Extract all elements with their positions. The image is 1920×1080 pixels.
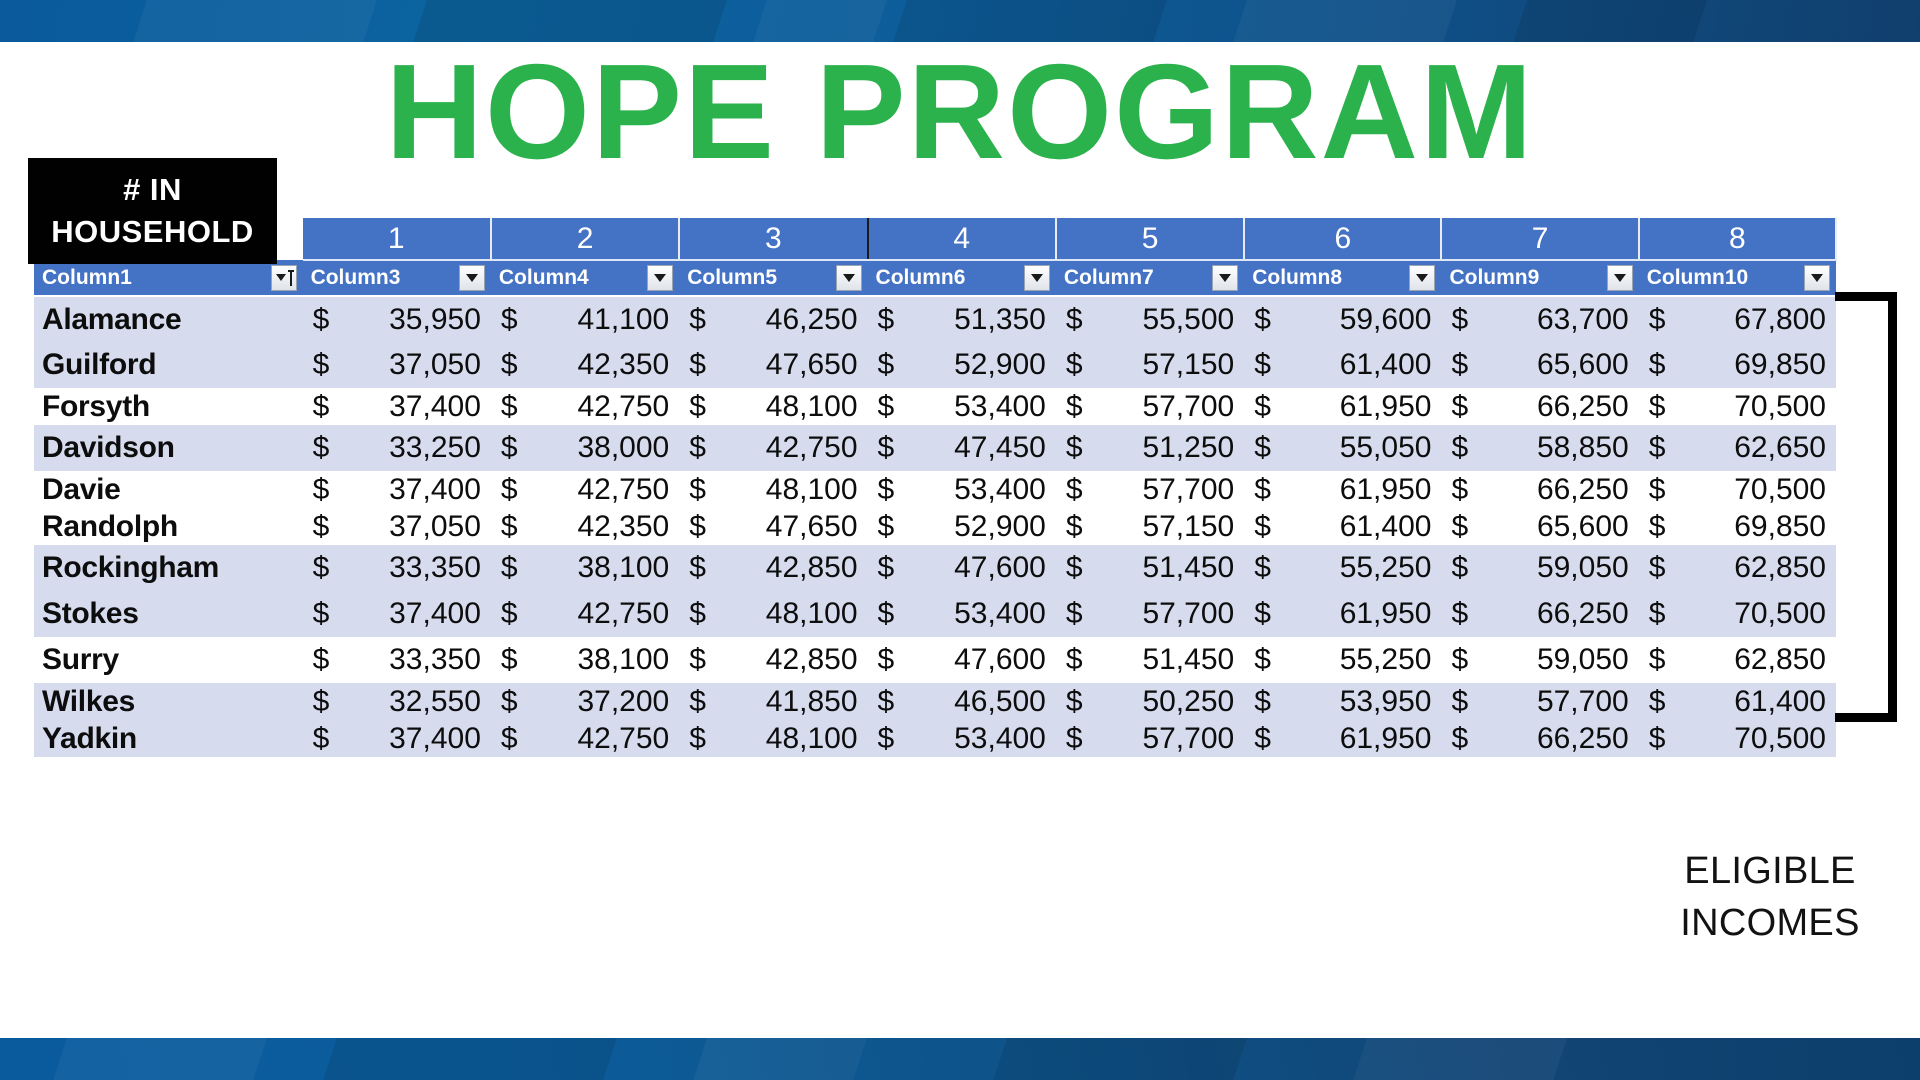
- income-amount: 48,100: [766, 390, 858, 423]
- income-amount: 53,950: [1340, 685, 1432, 718]
- income-amount: 47,600: [954, 551, 1046, 584]
- currency-symbol: $: [1066, 390, 1083, 424]
- income-cell: $42,750: [491, 471, 679, 508]
- income-amount: 53,400: [954, 390, 1046, 423]
- county-name-cell: Guilford: [34, 342, 303, 388]
- currency-symbol: $: [878, 685, 895, 719]
- income-amount: 70,500: [1734, 390, 1826, 423]
- income-cell: $47,600: [868, 637, 1056, 683]
- income-cell: $33,250: [303, 425, 491, 471]
- income-cell: $37,400: [303, 720, 491, 757]
- filter-dropdown-icon[interactable]: [459, 265, 485, 291]
- income-amount: 38,000: [577, 431, 669, 464]
- income-cell: $53,400: [868, 388, 1056, 425]
- currency-symbol: $: [1254, 390, 1271, 424]
- currency-symbol: $: [1451, 643, 1468, 677]
- household-size-header-2: 2: [491, 218, 679, 260]
- income-amount: 66,250: [1537, 597, 1629, 630]
- bottom-decorative-band: [0, 1038, 1920, 1080]
- income-amount: 61,950: [1340, 722, 1432, 755]
- column-header-label: Column10: [1647, 266, 1749, 290]
- income-amount: 33,250: [389, 431, 481, 464]
- currency-symbol: $: [689, 473, 706, 507]
- column-header-label: Column1: [42, 266, 132, 290]
- column-header-label: Column6: [876, 266, 966, 290]
- currency-symbol: $: [501, 348, 518, 382]
- currency-symbol: $: [1254, 473, 1271, 507]
- currency-symbol: $: [1254, 551, 1271, 585]
- currency-symbol: $: [878, 510, 895, 544]
- currency-symbol: $: [1066, 551, 1083, 585]
- income-cell: $61,950: [1244, 720, 1441, 757]
- table-body: Alamance$35,950$41,100$46,250$51,350$55,…: [34, 296, 1836, 757]
- income-amount: 47,650: [766, 510, 858, 543]
- income-amount: 62,650: [1734, 431, 1826, 464]
- income-amount: 37,400: [389, 597, 481, 630]
- band-facet: [990, 1038, 1249, 1080]
- column-header-column1: Column1: [34, 260, 303, 296]
- currency-symbol: $: [878, 348, 895, 382]
- currency-symbol: $: [689, 390, 706, 424]
- column-header-column8: Column8: [1244, 260, 1441, 296]
- income-amount: 37,050: [389, 348, 481, 381]
- currency-symbol: $: [1451, 551, 1468, 585]
- currency-symbol: $: [689, 643, 706, 677]
- income-cell: $37,400: [303, 591, 491, 637]
- income-amount: 41,100: [577, 303, 669, 336]
- income-amount: 67,800: [1734, 303, 1826, 336]
- band-facet: [50, 1038, 269, 1080]
- income-cell: $42,750: [491, 388, 679, 425]
- household-size-header-8: 8: [1639, 218, 1836, 260]
- currency-symbol: $: [1066, 348, 1083, 382]
- income-cell: $57,150: [1056, 508, 1244, 545]
- currency-symbol: $: [313, 473, 330, 507]
- income-cell: $61,950: [1244, 471, 1441, 508]
- income-amount: 51,250: [1142, 431, 1234, 464]
- income-cell: $51,450: [1056, 545, 1244, 591]
- income-cell: $57,700: [1056, 388, 1244, 425]
- currency-symbol: $: [1649, 643, 1666, 677]
- income-amount: 55,250: [1340, 643, 1432, 676]
- income-cell: $61,950: [1244, 591, 1441, 637]
- county-name-cell: Alamance: [34, 296, 303, 342]
- bracket-bottom-arm: [1835, 713, 1897, 722]
- chevron-down-icon: [1416, 274, 1428, 282]
- income-amount: 42,750: [577, 473, 669, 506]
- currency-symbol: $: [1254, 348, 1271, 382]
- household-header-label: # IN HOUSEHOLD: [28, 158, 277, 264]
- income-amount: 57,700: [1142, 597, 1234, 630]
- income-cell: $70,500: [1639, 471, 1836, 508]
- currency-symbol: $: [1254, 303, 1271, 337]
- currency-symbol: $: [1066, 643, 1083, 677]
- income-cell: $55,250: [1244, 637, 1441, 683]
- currency-symbol: $: [689, 722, 706, 756]
- income-amount: 61,950: [1340, 597, 1432, 630]
- currency-symbol: $: [313, 551, 330, 585]
- income-amount: 61,400: [1734, 685, 1826, 718]
- income-cell: $62,650: [1639, 425, 1836, 471]
- income-amount: 37,050: [389, 510, 481, 543]
- band-facet: [690, 1038, 869, 1080]
- currency-symbol: $: [689, 551, 706, 585]
- currency-symbol: $: [878, 643, 895, 677]
- income-cell: $41,850: [679, 683, 867, 720]
- income-amount: 51,350: [954, 303, 1046, 336]
- income-amount: 52,900: [954, 348, 1046, 381]
- county-name-cell: Forsyth: [34, 388, 303, 425]
- income-cell: $41,100: [491, 296, 679, 342]
- column-header-column10: Column10: [1639, 260, 1836, 296]
- table-row: Yadkin$37,400$42,750$48,100$53,400$57,70…: [34, 720, 1836, 757]
- income-cell: $57,700: [1056, 471, 1244, 508]
- income-cell: $47,600: [868, 545, 1056, 591]
- income-amount: 70,500: [1734, 722, 1826, 755]
- income-amount: 57,700: [1142, 473, 1234, 506]
- income-cell: $42,350: [491, 508, 679, 545]
- currency-symbol: $: [1066, 722, 1083, 756]
- income-cell: $37,400: [303, 388, 491, 425]
- income-amount: 59,050: [1537, 551, 1629, 584]
- income-cell: $66,250: [1441, 720, 1638, 757]
- income-amount: 61,400: [1340, 348, 1432, 381]
- income-cell: $48,100: [679, 471, 867, 508]
- currency-symbol: $: [313, 348, 330, 382]
- income-amount: 53,400: [954, 722, 1046, 755]
- currency-symbol: $: [1066, 303, 1083, 337]
- income-cell: $53,950: [1244, 683, 1441, 720]
- income-amount: 63,700: [1537, 303, 1629, 336]
- currency-symbol: $: [1066, 510, 1083, 544]
- currency-symbol: $: [689, 348, 706, 382]
- currency-symbol: $: [501, 303, 518, 337]
- income-cell: $67,800: [1639, 296, 1836, 342]
- income-amount: 66,250: [1537, 390, 1629, 423]
- household-label-line2: HOUSEHOLD: [51, 211, 254, 253]
- currency-symbol: $: [1254, 722, 1271, 756]
- income-amount: 42,750: [577, 597, 669, 630]
- income-amount: 33,350: [389, 643, 481, 676]
- income-cell: $42,850: [679, 637, 867, 683]
- county-name-cell: Stokes: [34, 591, 303, 637]
- currency-symbol: $: [1254, 597, 1271, 631]
- income-amount: 48,100: [766, 597, 858, 630]
- income-cell: $48,100: [679, 720, 867, 757]
- currency-symbol: $: [1451, 685, 1468, 719]
- income-cell: $42,750: [491, 720, 679, 757]
- income-amount: 65,600: [1537, 348, 1629, 381]
- currency-symbol: $: [878, 431, 895, 465]
- income-cell: $42,850: [679, 545, 867, 591]
- income-cell: $53,400: [868, 591, 1056, 637]
- income-amount: 57,150: [1142, 348, 1234, 381]
- income-amount: 42,750: [577, 390, 669, 423]
- income-cell: $46,500: [868, 683, 1056, 720]
- table-row: Surry$33,350$38,100$42,850$47,600$51,450…: [34, 637, 1836, 683]
- income-amount: 51,450: [1142, 551, 1234, 584]
- income-amount: 61,950: [1340, 473, 1432, 506]
- county-name-cell: Yadkin: [34, 720, 303, 757]
- currency-symbol: $: [501, 431, 518, 465]
- chevron-down-icon: [654, 274, 666, 282]
- currency-symbol: $: [1649, 390, 1666, 424]
- currency-symbol: $: [313, 722, 330, 756]
- county-name-cell: Randolph: [34, 508, 303, 545]
- table-row: Wilkes$32,550$37,200$41,850$46,500$50,25…: [34, 683, 1836, 720]
- page-title: HOPE PROGRAM: [0, 44, 1920, 179]
- income-amount: 50,250: [1142, 685, 1234, 718]
- income-amount: 61,400: [1340, 510, 1432, 543]
- household-size-header-5: 5: [1056, 218, 1244, 260]
- income-cell: $57,700: [1441, 683, 1638, 720]
- income-cell: $62,850: [1639, 637, 1836, 683]
- currency-symbol: $: [1649, 722, 1666, 756]
- income-cell: $55,050: [1244, 425, 1441, 471]
- caption-line-1: ELIGIBLE: [1640, 845, 1900, 897]
- column-header-label: Column5: [687, 266, 777, 290]
- currency-symbol: $: [1451, 348, 1468, 382]
- currency-symbol: $: [1254, 510, 1271, 544]
- income-amount: 66,250: [1537, 473, 1629, 506]
- chevron-down-icon: [276, 274, 286, 281]
- currency-symbol: $: [878, 303, 895, 337]
- income-amount: 37,200: [577, 685, 669, 718]
- income-amount: 37,400: [389, 390, 481, 423]
- slide-canvas: HOPE PROGRAM # IN HOUSEHOLD 12345678 Col…: [0, 0, 1920, 1080]
- income-amount: 42,750: [577, 722, 669, 755]
- income-amount: 57,700: [1142, 722, 1234, 755]
- filter-sorted-icon[interactable]: [271, 265, 297, 291]
- currency-symbol: $: [1066, 597, 1083, 631]
- table-row: Forsyth$37,400$42,750$48,100$53,400$57,7…: [34, 388, 1836, 425]
- currency-symbol: $: [1649, 348, 1666, 382]
- income-amount: 47,600: [954, 643, 1046, 676]
- income-amount: 65,600: [1537, 510, 1629, 543]
- income-amount: 61,950: [1340, 390, 1432, 423]
- county-name-cell: Davie: [34, 471, 303, 508]
- income-cell: $66,250: [1441, 591, 1638, 637]
- income-cell: $70,500: [1639, 720, 1836, 757]
- income-amount: 57,700: [1142, 390, 1234, 423]
- income-cell: $42,750: [679, 425, 867, 471]
- income-cell: $59,050: [1441, 545, 1638, 591]
- income-amount: 32,550: [389, 685, 481, 718]
- household-label-line1: # IN: [123, 169, 182, 211]
- chevron-down-icon: [843, 274, 855, 282]
- income-cell: $47,650: [679, 342, 867, 388]
- county-name-cell: Rockingham: [34, 545, 303, 591]
- income-cell: $33,350: [303, 637, 491, 683]
- currency-symbol: $: [1254, 431, 1271, 465]
- currency-symbol: $: [1066, 431, 1083, 465]
- right-square-bracket-icon: [1835, 292, 1905, 722]
- income-amount: 42,350: [577, 348, 669, 381]
- income-amount: 41,850: [766, 685, 858, 718]
- income-table: 12345678 Column1Column3Column4Column5Col…: [34, 218, 1837, 757]
- caption-line-2: INCOMES: [1640, 897, 1900, 949]
- column-header-column4: Column4: [491, 260, 679, 296]
- currency-symbol: $: [501, 551, 518, 585]
- chevron-down-icon: [1614, 274, 1626, 282]
- currency-symbol: $: [1451, 722, 1468, 756]
- filter-dropdown-icon[interactable]: [647, 265, 673, 291]
- currency-symbol: $: [689, 597, 706, 631]
- currency-symbol: $: [313, 510, 330, 544]
- income-cell: $37,400: [303, 471, 491, 508]
- income-amount: 51,450: [1142, 643, 1234, 676]
- filter-header-row: Column1Column3Column4Column5Column6Colum…: [34, 260, 1836, 296]
- table-header: 12345678 Column1Column3Column4Column5Col…: [34, 218, 1836, 296]
- income-amount: 37,400: [389, 473, 481, 506]
- currency-symbol: $: [501, 473, 518, 507]
- income-amount: 46,500: [954, 685, 1046, 718]
- income-cell: $52,900: [868, 508, 1056, 545]
- income-cell: $52,900: [868, 342, 1056, 388]
- income-cell: $57,700: [1056, 591, 1244, 637]
- currency-symbol: $: [1451, 510, 1468, 544]
- income-cell: $38,000: [491, 425, 679, 471]
- currency-symbol: $: [501, 390, 518, 424]
- currency-symbol: $: [1649, 473, 1666, 507]
- income-cell: $48,100: [679, 388, 867, 425]
- income-amount: 42,850: [766, 551, 858, 584]
- income-amount: 57,700: [1537, 685, 1629, 718]
- income-cell: $59,050: [1441, 637, 1638, 683]
- income-cell: $53,400: [868, 471, 1056, 508]
- column-header-label: Column9: [1449, 266, 1539, 290]
- currency-symbol: $: [878, 722, 895, 756]
- income-amount: 38,100: [577, 551, 669, 584]
- income-cell: $66,250: [1441, 471, 1638, 508]
- income-cell: $61,400: [1244, 508, 1441, 545]
- currency-symbol: $: [689, 685, 706, 719]
- income-amount: 70,500: [1734, 597, 1826, 630]
- county-name-cell: Davidson: [34, 425, 303, 471]
- income-cell: $55,250: [1244, 545, 1441, 591]
- currency-symbol: $: [1451, 390, 1468, 424]
- filter-dropdown-icon[interactable]: [1804, 265, 1830, 291]
- income-amount: 47,450: [954, 431, 1046, 464]
- table-row: Guilford$37,050$42,350$47,650$52,900$57,…: [34, 342, 1836, 388]
- chevron-down-icon: [1811, 274, 1823, 282]
- income-cell: $51,250: [1056, 425, 1244, 471]
- currency-symbol: $: [878, 551, 895, 585]
- income-cell: $37,050: [303, 342, 491, 388]
- currency-symbol: $: [1649, 551, 1666, 585]
- currency-symbol: $: [313, 390, 330, 424]
- column-header-column6: Column6: [868, 260, 1056, 296]
- income-cell: $69,850: [1639, 508, 1836, 545]
- filter-dropdown-icon[interactable]: [1607, 265, 1633, 291]
- column-header-column3: Column3: [303, 260, 491, 296]
- currency-symbol: $: [501, 597, 518, 631]
- income-cell: $65,600: [1441, 342, 1638, 388]
- income-cell: $61,400: [1244, 342, 1441, 388]
- currency-symbol: $: [1066, 685, 1083, 719]
- income-amount: 52,900: [954, 510, 1046, 543]
- currency-symbol: $: [1649, 685, 1666, 719]
- income-cell: $70,500: [1639, 591, 1836, 637]
- income-amount: 53,400: [954, 473, 1046, 506]
- income-amount: 46,250: [766, 303, 858, 336]
- currency-symbol: $: [689, 431, 706, 465]
- income-amount: 53,400: [954, 597, 1046, 630]
- table-row: Stokes$37,400$42,750$48,100$53,400$57,70…: [34, 591, 1836, 637]
- filter-dropdown-icon[interactable]: [1212, 265, 1238, 291]
- currency-symbol: $: [1649, 510, 1666, 544]
- filter-dropdown-icon[interactable]: [1024, 265, 1050, 291]
- income-cell: $48,100: [679, 591, 867, 637]
- band-facet: [320, 1038, 619, 1080]
- chevron-down-icon: [466, 274, 478, 282]
- income-amount: 57,150: [1142, 510, 1234, 543]
- income-cell: $59,600: [1244, 296, 1441, 342]
- filter-dropdown-icon[interactable]: [1409, 265, 1435, 291]
- band-facet: [130, 0, 379, 42]
- income-cell: $37,050: [303, 508, 491, 545]
- table-row: Davie$37,400$42,750$48,100$53,400$57,700…: [34, 471, 1836, 508]
- income-amount: 55,050: [1340, 431, 1432, 464]
- filter-dropdown-icon[interactable]: [836, 265, 862, 291]
- income-cell: $51,350: [868, 296, 1056, 342]
- income-cell: $47,650: [679, 508, 867, 545]
- currency-symbol: $: [501, 685, 518, 719]
- income-amount: 48,100: [766, 722, 858, 755]
- income-amount: 42,850: [766, 643, 858, 676]
- income-cell: $38,100: [491, 545, 679, 591]
- income-cell: $46,250: [679, 296, 867, 342]
- currency-symbol: $: [1451, 597, 1468, 631]
- table-row: Davidson$33,250$38,000$42,750$47,450$51,…: [34, 425, 1836, 471]
- currency-symbol: $: [1451, 473, 1468, 507]
- income-cell: $66,250: [1441, 388, 1638, 425]
- column-header-label: Column3: [311, 266, 401, 290]
- currency-symbol: $: [1451, 431, 1468, 465]
- income-amount: 55,500: [1142, 303, 1234, 336]
- household-size-header-1: 1: [303, 218, 491, 260]
- income-amount: 62,850: [1734, 551, 1826, 584]
- income-cell: $55,500: [1056, 296, 1244, 342]
- income-amount: 35,950: [389, 303, 481, 336]
- income-cell: $58,850: [1441, 425, 1638, 471]
- currency-symbol: $: [1254, 643, 1271, 677]
- income-amount: 42,750: [766, 431, 858, 464]
- chevron-down-icon: [1219, 274, 1231, 282]
- income-cell: $47,450: [868, 425, 1056, 471]
- income-amount: 47,650: [766, 348, 858, 381]
- table-row: Randolph$37,050$42,350$47,650$52,900$57,…: [34, 508, 1836, 545]
- income-cell: $53,400: [868, 720, 1056, 757]
- currency-symbol: $: [501, 643, 518, 677]
- county-name-cell: Surry: [34, 637, 303, 683]
- income-amount: 38,100: [577, 643, 669, 676]
- currency-symbol: $: [313, 303, 330, 337]
- income-amount: 55,250: [1340, 551, 1432, 584]
- income-cell: $69,850: [1639, 342, 1836, 388]
- income-cell: $57,150: [1056, 342, 1244, 388]
- currency-symbol: $: [313, 685, 330, 719]
- table-row: Alamance$35,950$41,100$46,250$51,350$55,…: [34, 296, 1836, 342]
- income-amount: 59,050: [1537, 643, 1629, 676]
- household-size-header-3: 3: [679, 218, 867, 260]
- band-facet: [1350, 1038, 1569, 1080]
- column-header-label: Column4: [499, 266, 589, 290]
- band-facet: [1510, 0, 1709, 42]
- currency-symbol: $: [1649, 431, 1666, 465]
- chevron-down-icon: [1031, 274, 1043, 282]
- income-cell: $42,350: [491, 342, 679, 388]
